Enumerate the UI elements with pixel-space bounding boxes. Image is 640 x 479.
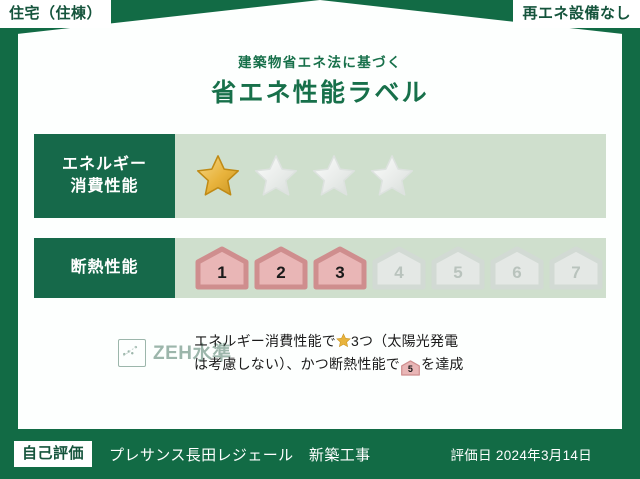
note-block: ZEH水準 エネルギー消費性能で3つ（太陽光発電 は考慮しない）、かつ断熱性能で… [34,330,606,376]
grade-badge-value: 1 [217,264,226,290]
zeh-standard-chip: ZEH水準 [34,339,194,367]
achievement-description: エネルギー消費性能で3つ（太陽光発電 は考慮しない）、かつ断熱性能で5を達成 [194,330,464,376]
zeh-chart-icon [118,339,146,367]
inline-grade-house-icon: 5 [401,360,420,376]
note-line2-prefix: は考慮しない）、かつ断熱性能で [194,356,400,372]
grade-badge-inactive: 6 [490,246,544,290]
star-icon-filled [195,153,241,199]
heading-title: 省エネ性能ラベル [0,81,640,106]
insulation-grade-scale: 1234567 [175,238,608,298]
grade-badge-value: 3 [335,264,344,290]
renewable-equipment-tag: 再エネ設備なし [513,0,640,28]
note-line1-suffix: 3つ（太陽光発電 [351,333,458,349]
inline-star-icon [336,333,351,348]
grade-badge-value: 5 [453,264,462,290]
evaluation-date: 評価日 2024年3月14日 [450,444,592,464]
energy-performance-label: エネルギー 消費性能 [34,134,175,218]
star-icon-empty [253,153,299,199]
label-footer: 自己評価 プレサンス長田レジェール 新築工事 評価日 2024年3月14日 [0,429,640,479]
evaluation-type-chip: 自己評価 [14,441,92,467]
grade-badge-active: 2 [254,246,308,290]
energy-star-rating [175,134,606,218]
star-icon-empty [311,153,357,199]
insulation-performance-label: 断熱性能 [34,238,175,298]
note-line2-suffix: を達成 [421,356,464,372]
label-heading: 建築物省エネ法に基づく 省エネ性能ラベル [0,56,640,106]
insulation-performance-row: 断熱性能 1234567 [34,238,606,298]
energy-label-line1: エネルギー [62,154,147,176]
energy-label-line2: 消費性能 [70,176,138,198]
grade-badge-value: 2 [276,264,285,290]
insulation-label-text: 断熱性能 [70,257,138,279]
grade-badge-value: 6 [512,264,521,290]
building-type-tag: 住宅（住棟） [0,0,111,28]
grade-badge-active: 1 [195,246,249,290]
grade-badge-inactive: 7 [549,246,603,290]
grade-badge-inactive: 4 [372,246,426,290]
property-name: プレサンス長田レジェール 新築工事 [109,444,371,465]
heading-subtitle: 建築物省エネ法に基づく [0,56,640,70]
grade-badge-value: 7 [571,264,580,290]
grade-badge-inactive: 5 [431,246,485,290]
energy-performance-label: 住宅（住棟） 再エネ設備なし 建築物省エネ法に基づく 省エネ性能ラベル エネルギ… [0,0,640,479]
grade-badge-active: 3 [313,246,367,290]
energy-performance-row: エネルギー 消費性能 [34,134,606,218]
star-icon-empty [369,153,415,199]
grade-badge-value: 4 [394,264,403,290]
note-line1-prefix: エネルギー消費性能で [194,333,336,349]
inline-grade-value: 5 [401,360,420,379]
